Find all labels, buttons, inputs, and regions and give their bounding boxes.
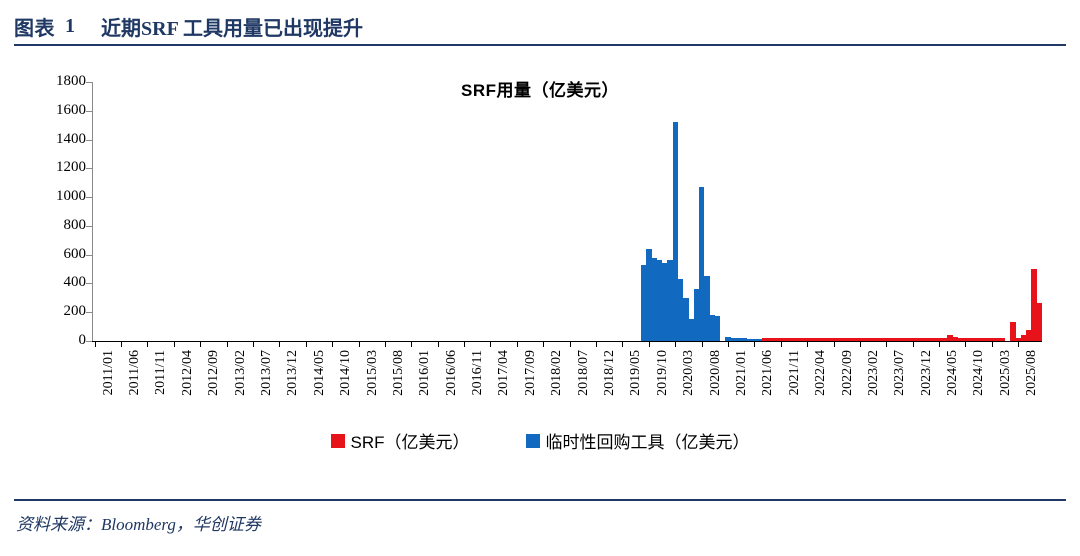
y-tick: 400 xyxy=(30,283,86,284)
x-tick-label: 2025/08 xyxy=(1024,350,1040,396)
x-tick-label: 2022/04 xyxy=(813,350,829,396)
y-tick-label: 0 xyxy=(40,333,86,348)
bar-srf xyxy=(1000,338,1006,341)
x-tick-mark xyxy=(649,342,650,347)
y-tick-label: 1400 xyxy=(40,132,86,147)
x-tick-mark xyxy=(464,342,465,347)
x-tick-mark xyxy=(1018,342,1019,347)
x-tick-mark xyxy=(992,342,993,347)
x-tick-label: 2024/05 xyxy=(945,350,961,396)
x-tick-label: 2014/05 xyxy=(312,350,328,396)
legend-item-srf[interactable]: SRF（亿美元） xyxy=(331,428,470,453)
x-tick-label: 2014/10 xyxy=(338,350,354,396)
y-tick: 1800 xyxy=(30,82,86,83)
bar-temporary-repo xyxy=(715,316,721,341)
x-tick-mark xyxy=(965,342,966,347)
x-tick-label: 2013/12 xyxy=(285,350,301,396)
x-tick-label: 2011/11 xyxy=(153,350,169,395)
figure-card: 图表 1 近期SRF 工具用量已出现提升 SRF用量（亿美元） 02004006… xyxy=(0,0,1080,556)
chart-legend: SRF（亿美元） 临时性回购工具（亿美元） xyxy=(0,428,1080,453)
figure-title: 近期SRF 工具用量已出现提升 xyxy=(101,12,363,41)
y-tick-label: 1200 xyxy=(40,160,86,175)
y-tick: 600 xyxy=(30,255,86,256)
x-tick-mark xyxy=(596,342,597,347)
figure-header: 图表 1 近期SRF 工具用量已出现提升 xyxy=(14,8,1066,44)
x-tick-mark xyxy=(939,342,940,347)
x-tick-mark xyxy=(253,342,254,347)
x-tick-mark xyxy=(411,342,412,347)
y-tick-label: 800 xyxy=(40,218,86,233)
x-tick-label: 2023/07 xyxy=(892,350,908,396)
y-tick-label: 1800 xyxy=(40,74,86,89)
x-tick-mark xyxy=(121,342,122,347)
x-tick-mark xyxy=(517,342,518,347)
y-tick-label: 200 xyxy=(40,304,86,319)
x-tick-mark xyxy=(306,342,307,347)
x-tick-mark xyxy=(886,342,887,347)
plot-area xyxy=(92,82,1042,341)
x-tick-mark xyxy=(95,342,96,347)
y-tick: 200 xyxy=(30,312,86,313)
x-tick-mark xyxy=(279,342,280,347)
x-tick-mark xyxy=(332,342,333,347)
y-tick-mark xyxy=(86,341,92,342)
x-tick-mark xyxy=(543,342,544,347)
y-tick: 1600 xyxy=(30,111,86,112)
y-tick-label: 1000 xyxy=(40,189,86,204)
legend-item-temporary-repo[interactable]: 临时性回购工具（亿美元） xyxy=(526,428,750,453)
x-tick-mark xyxy=(385,342,386,347)
y-tick: 0 xyxy=(30,341,86,342)
x-tick-label: 2021/06 xyxy=(760,350,776,396)
header-divider xyxy=(14,44,1066,46)
x-tick-mark xyxy=(174,342,175,347)
x-tick-mark xyxy=(359,342,360,347)
y-tick-label: 1600 xyxy=(40,103,86,118)
x-tick-mark xyxy=(227,342,228,347)
footer-divider xyxy=(14,499,1066,501)
x-tick-label: 2016/06 xyxy=(444,350,460,396)
x-tick-mark xyxy=(834,342,835,347)
y-tick-label: 400 xyxy=(40,275,86,290)
legend-label-srf: SRF（亿美元） xyxy=(351,428,470,453)
x-tick-label: 2012/09 xyxy=(206,350,222,396)
x-tick-label: 2024/10 xyxy=(971,350,987,396)
x-tick-mark xyxy=(147,342,148,347)
y-tick: 1200 xyxy=(30,168,86,169)
x-tick-mark xyxy=(675,342,676,347)
x-tick-label: 2020/08 xyxy=(708,350,724,396)
x-tick-label: 2016/11 xyxy=(470,350,486,395)
x-tick-label: 2012/04 xyxy=(180,350,196,396)
x-tick-label: 2017/09 xyxy=(523,350,539,396)
x-tick-label: 2022/09 xyxy=(840,350,856,396)
x-tick-mark xyxy=(438,342,439,347)
x-tick-label: 2015/03 xyxy=(365,350,381,396)
x-tick-label: 2023/12 xyxy=(919,350,935,396)
chart-container: SRF用量（亿美元） 02004006008001000120014001600… xyxy=(0,56,1080,486)
x-tick-label: 2021/01 xyxy=(734,350,750,396)
x-tick-label: 2023/02 xyxy=(866,350,882,396)
x-tick-mark xyxy=(913,342,914,347)
x-tick-mark xyxy=(570,342,571,347)
x-tick-mark xyxy=(622,342,623,347)
x-tick-mark xyxy=(702,342,703,347)
x-tick-label: 2025/03 xyxy=(998,350,1014,396)
x-tick-mark xyxy=(860,342,861,347)
x-tick-label: 2021/11 xyxy=(787,350,803,395)
legend-label-temporary-repo: 临时性回购工具（亿美元） xyxy=(546,428,750,453)
bar-srf xyxy=(1037,303,1043,341)
x-tick-mark xyxy=(754,342,755,347)
y-tick: 1400 xyxy=(30,140,86,141)
x-tick-mark xyxy=(807,342,808,347)
legend-swatch-srf xyxy=(331,434,345,448)
y-tick: 800 xyxy=(30,226,86,227)
x-tick-mark xyxy=(490,342,491,347)
x-tick-label: 2018/02 xyxy=(549,350,565,396)
source-note: 资料来源：Bloomberg，华创证券 xyxy=(16,510,261,535)
y-tick-label: 600 xyxy=(40,247,86,262)
x-tick-label: 2011/01 xyxy=(101,350,117,395)
x-tick-mark xyxy=(200,342,201,347)
figure-label: 图表 xyxy=(14,12,55,41)
x-tick-label: 2020/03 xyxy=(681,350,697,396)
x-tick-label: 2015/08 xyxy=(391,350,407,396)
x-tick-label: 2017/04 xyxy=(496,350,512,396)
x-tick-label: 2018/07 xyxy=(576,350,592,396)
x-tick-label: 2018/12 xyxy=(602,350,618,396)
figure-number: 1 xyxy=(65,15,75,38)
y-tick: 1000 xyxy=(30,197,86,198)
x-tick-label: 2016/01 xyxy=(417,350,433,396)
x-tick-label: 2011/06 xyxy=(127,350,143,395)
x-axis-line xyxy=(92,341,1042,342)
x-tick-label: 2019/05 xyxy=(628,350,644,396)
x-tick-mark xyxy=(728,342,729,347)
x-tick-label: 2019/10 xyxy=(655,350,671,396)
x-tick-label: 2013/02 xyxy=(233,350,249,396)
x-tick-label: 2013/07 xyxy=(259,350,275,396)
x-tick-mark xyxy=(781,342,782,347)
legend-swatch-temporary-repo xyxy=(526,434,540,448)
